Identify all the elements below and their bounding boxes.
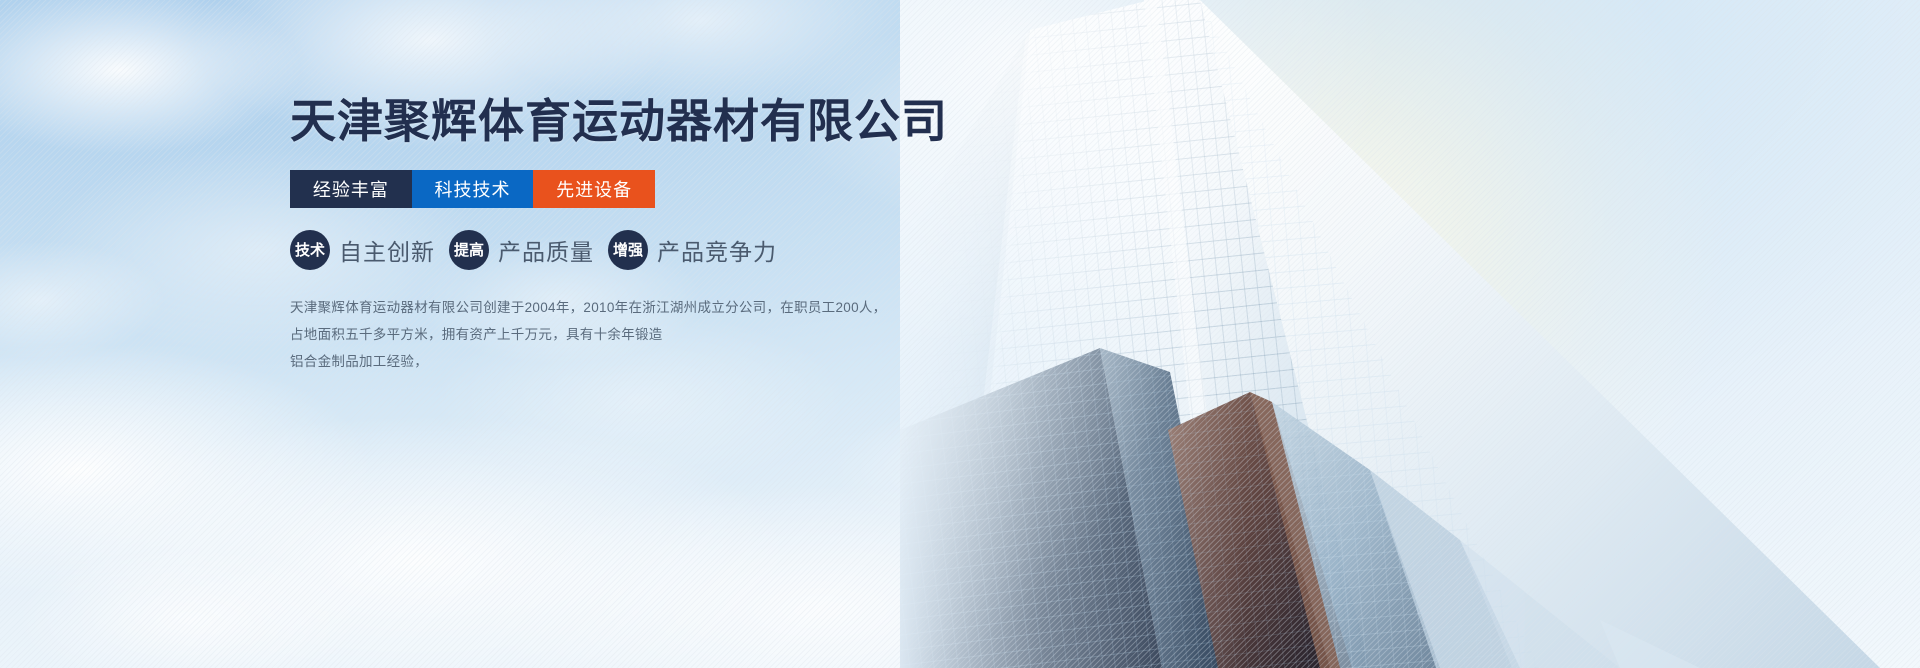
skyscraper-photo xyxy=(900,0,1920,668)
banner-content: 天津聚辉体育运动器材有限公司 经验丰富 科技技术 先进设备 技术 自主创新 提高… xyxy=(290,95,930,375)
page-title: 天津聚辉体育运动器材有限公司 xyxy=(290,95,930,148)
pill-group-quality: 提高 产品质量 xyxy=(449,230,594,270)
pill-badge-improve: 提高 xyxy=(449,230,489,270)
pill-group-competitiveness: 增强 产品竞争力 xyxy=(608,230,777,270)
tab-technology[interactable]: 科技技术 xyxy=(412,170,534,208)
description-line-3: 铝合金制品加工经验， xyxy=(290,348,930,375)
pill-text-innovation: 自主创新 xyxy=(339,233,435,267)
pill-text-quality: 产品质量 xyxy=(498,233,594,267)
hero-banner: 天津聚辉体育运动器材有限公司 经验丰富 科技技术 先进设备 技术 自主创新 提高… xyxy=(0,0,1920,668)
description-line-2: 占地面积五千多平方米，拥有资产上千万元，具有十余年锻造 xyxy=(290,321,930,348)
company-description: 天津聚辉体育运动器材有限公司创建于2004年，2010年在浙江湖州成立分公司，在… xyxy=(290,294,930,375)
pill-text-competitiveness: 产品竞争力 xyxy=(657,233,777,267)
highlight-pills: 技术 自主创新 提高 产品质量 增强 产品竞争力 xyxy=(290,230,930,270)
tab-experience[interactable]: 经验丰富 xyxy=(290,170,412,208)
feature-tabs: 经验丰富 科技技术 先进设备 xyxy=(290,170,655,208)
description-line-1: 天津聚辉体育运动器材有限公司创建于2004年，2010年在浙江湖州成立分公司，在… xyxy=(290,294,930,321)
skyscraper-illustration xyxy=(900,0,1920,668)
pill-badge-technology: 技术 xyxy=(290,230,330,270)
pill-group-innovation: 技术 自主创新 xyxy=(290,230,435,270)
tab-equipment[interactable]: 先进设备 xyxy=(533,170,655,208)
pill-badge-enhance: 增强 xyxy=(608,230,648,270)
